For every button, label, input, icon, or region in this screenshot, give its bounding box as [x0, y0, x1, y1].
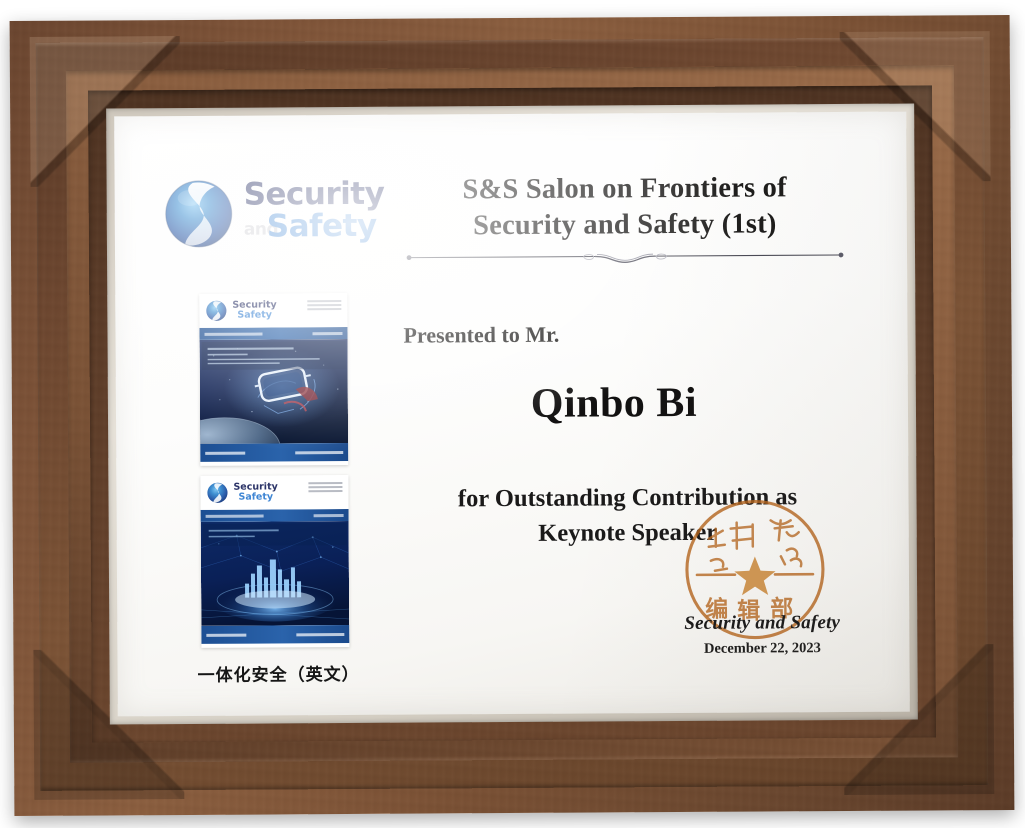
picture-frame: Security and Safety S&S Salon on Frontie… [10, 15, 1015, 816]
recipient-name: Qinbo Bi [404, 378, 824, 429]
ornamental-divider-icon [397, 248, 853, 267]
signing-organization: Security and Safety [637, 612, 887, 636]
cover-wordmark: Security Safety [233, 482, 277, 502]
signature-block: Security and Safety December 22, 2023 [637, 612, 887, 659]
cover-footer-bar [200, 443, 348, 462]
journal-cover-thumbnail: Security Safety [200, 475, 349, 648]
vr-headset-space-cover-art-icon [200, 339, 349, 444]
security-and-safety-orb-logo-icon [205, 300, 227, 322]
certificate-title-line-2: Security and Safety (1st) [397, 206, 853, 245]
presented-to-label: Presented to Mr. [403, 322, 559, 349]
brand-wordmark: Security and Safety [244, 179, 385, 248]
cover-brand-line-2: Safety [233, 492, 277, 502]
brand-word-security: Security [244, 179, 385, 211]
certificate-title-block: S&S Salon on Frontiers of Security and S… [397, 170, 854, 267]
cover-brand-line-2: Safety [232, 310, 276, 320]
citation-line-1: for Outstanding Contribution as [392, 480, 862, 518]
cover-footer-bar [201, 625, 349, 644]
brand-word-safety: Safety [267, 211, 377, 243]
cover-masthead: Security Safety [199, 293, 347, 328]
certificate-title-line-1: S&S Salon on Frontiers of [397, 170, 853, 209]
digital-city-skyline-cover-art-icon [201, 521, 350, 626]
security-and-safety-orb-logo-icon [206, 482, 228, 504]
cover-issue-bar [199, 327, 347, 340]
covers-caption: 一体化安全（英文） [197, 660, 359, 686]
security-and-safety-orb-logo-icon [163, 178, 235, 250]
cover-wordmark: Security Safety [232, 300, 276, 320]
citation-text: for Outstanding Contribution as Keynote … [392, 480, 862, 552]
citation-line-2: Keynote Speaker [393, 515, 863, 553]
cover-issue-bar [201, 509, 349, 522]
brand-masthead: Security and Safety [163, 177, 385, 250]
certificate-paper: Security and Safety S&S Salon on Frontie… [114, 112, 910, 717]
issue-date: December 22, 2023 [637, 640, 887, 659]
cover-meta-lines [307, 300, 341, 312]
cover-meta-lines [308, 482, 342, 494]
certificate-photo: Security and Safety S&S Salon on Frontie… [0, 0, 1025, 828]
cover-masthead: Security Safety [200, 475, 348, 510]
journal-cover-thumbnail: Security Safety [199, 293, 348, 466]
